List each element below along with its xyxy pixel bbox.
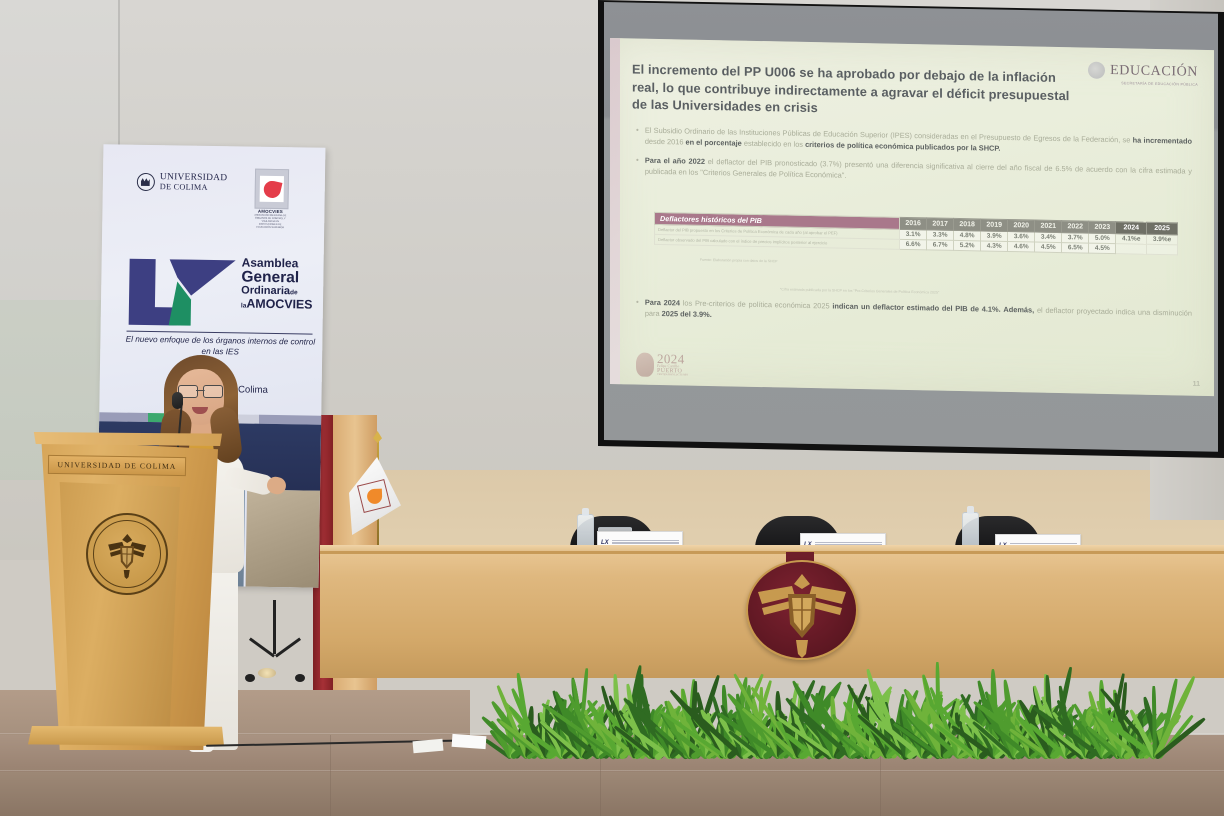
bullet-emphasis: en el porcentaje (686, 138, 742, 148)
eyeglass-lens-right (203, 385, 223, 398)
universidad-label: UNIVERSIDAD DE COLIMA (160, 173, 228, 193)
slide-bottom-bullet: • Para 2024 los Pre-criterios de polític… (636, 297, 1192, 338)
table-cell: 3.9%e (1147, 234, 1178, 245)
educacion-logo-label: EDUCACIÓN (1110, 63, 1198, 81)
table-cell: 3.7% (1062, 233, 1089, 244)
bullet-plain: desde 2016 (645, 137, 686, 147)
list-item: • Para 2024 los Pre-criterios de polític… (636, 297, 1192, 331)
floor-paper (452, 734, 487, 749)
government-seal-icon (1088, 62, 1105, 79)
presentation-hall-photo: EDUCACIÓN SECRETARÍA DE EDUCACIÓN PÚBLIC… (0, 0, 1224, 816)
bullet-plain: los Pre-criterios de política económica … (680, 298, 832, 310)
table-col-header-highlight: 2024 (1116, 222, 1147, 235)
assembly-line3-small: de (290, 289, 298, 296)
table-col-header: 2022 (1062, 221, 1089, 234)
table-col-header: 2016 (900, 217, 927, 230)
table-note-top: Fuente: Elaboración propia con datos de … (700, 258, 777, 264)
podium-base (28, 726, 224, 746)
speaker-eyeglasses (178, 385, 223, 396)
equipment-tripod (243, 600, 309, 696)
slide-accent-bar (610, 38, 620, 384)
table-cell: 4.8% (954, 230, 981, 241)
assembly-title: Asamblea General Ordinariade laAMOCVIES (241, 256, 320, 311)
table-col-header: 2018 (954, 218, 981, 231)
assembly-line4: laAMOCVIES (241, 297, 319, 311)
plant-leaf (1152, 686, 1157, 758)
eagle-crest-icon (102, 529, 153, 580)
educacion-logo: EDUCACIÓN (1088, 62, 1198, 81)
amocvies-logo-sublabel: ASOCIACIÓN MEXICANA DE ÓRGANOS DE CONTRO… (252, 214, 288, 230)
table-cell: 4.3% (981, 241, 1008, 252)
table-col-header: 2020 (1008, 219, 1035, 232)
amocvies-drop-icon (262, 179, 282, 199)
logo-caption: CENTENARIO LUCTUOSO (657, 374, 688, 377)
podium-top-surface (30, 432, 222, 446)
floor-spotlight (258, 668, 276, 678)
slide-title: El incremento del PP U006 se ha aprobado… (632, 60, 1082, 122)
bullet-text: Para 2024 los Pre-criterios de política … (645, 297, 1192, 330)
table-cell: 5.2% (954, 240, 981, 251)
carrillo-puerto-portrait-icon (636, 353, 654, 377)
universidad-line2: DE COLIMA (160, 183, 227, 193)
deflactores-table: Deflactores históricos del PIB 2016 2017… (654, 212, 1178, 256)
bullet-text: Para el año 2022 el deflactor del PIB pr… (645, 154, 1192, 187)
universidad-de-colima-logo: UNIVERSIDAD DE COLIMA (137, 173, 228, 193)
slide-bullet-list: • El Subsidio Ordinario de las Instituci… (636, 125, 1192, 195)
bullet-emphasis: Para el año 2022 (645, 155, 705, 165)
table-col-header: 2021 (1035, 220, 1062, 233)
bullet-text: El Subsidio Ordinario de las Institucion… (645, 125, 1192, 158)
table-cell: 6.5% (1062, 243, 1089, 254)
table-cell (1116, 244, 1147, 255)
decorative-plants (500, 630, 1150, 758)
colima-seal-icon (137, 173, 155, 191)
table-cell: 3.4% (1035, 232, 1062, 243)
table-cell: 6.6% (900, 239, 927, 250)
table-col-header: 2023 (1089, 221, 1116, 234)
bullet-emphasis: Además, (1003, 305, 1034, 315)
table-cell: 5.0% (1089, 233, 1116, 244)
bullet-plain: establecido en los (742, 139, 805, 149)
table-col-header-highlight: 2025 (1147, 222, 1178, 235)
table-cell: 3.9% (981, 231, 1008, 242)
table-cell: 4.6% (1008, 241, 1035, 252)
microphone-head-icon (172, 392, 183, 409)
bullet-emphasis: criterios de política económica publicad… (805, 140, 1000, 153)
table-note-bottom: *Cifra estimada publicada por la SHCP en… (780, 287, 939, 294)
table-cell: 4.5% (1089, 243, 1116, 254)
bullet-emphasis: ha incrementado (1133, 135, 1192, 145)
table-cell (1147, 244, 1178, 255)
floor-tile-line (330, 735, 331, 816)
podium-nameplate: UNIVERSIDAD DE COLIMA (48, 455, 186, 476)
table-cell: 3.1% (900, 229, 927, 240)
table-col-header: 2019 (981, 219, 1008, 232)
bullet-dot-icon: • (636, 154, 639, 177)
table-col-header: 2017 (927, 218, 954, 231)
bullet-emphasis: indican un deflactor estimado del PIB de… (832, 301, 1000, 313)
amocvies-logo-inner (260, 176, 284, 202)
table-cell: 4.5% (1035, 242, 1062, 253)
table-cell: 3.3% (927, 230, 954, 241)
bullet-emphasis: 2025 del 3.9%. (662, 309, 712, 319)
assembly-line4-main: AMOCVIES (246, 296, 312, 311)
amocvies-logo (254, 169, 289, 210)
bullet-emphasis: Para 2024 (645, 298, 680, 308)
slide-page-number: 11 (1193, 381, 1200, 388)
list-item: • Para el año 2022 el deflactor del PIB … (636, 154, 1192, 188)
table-cell: 3.6% (1008, 231, 1035, 242)
list-item: • El Subsidio Ordinario de las Instituci… (636, 125, 1192, 159)
plant (1144, 659, 1170, 758)
bullet-dot-icon: • (636, 125, 639, 148)
podium-nameplate-text: UNIVERSIDAD DE COLIMA (57, 460, 176, 471)
carrillo-puerto-text: 2024 Felipe Carrillo PUERTO CENTENARIO L… (657, 352, 688, 378)
lx-mark-icon (125, 255, 242, 329)
educacion-logo-sublabel: SECRETARÍA DE EDUCACIÓN PÚBLICA (1121, 81, 1198, 87)
carrillo-puerto-logo: 2024 Felipe Carrillo PUERTO CENTENARIO L… (636, 351, 688, 377)
table-cell: 6.7% (927, 240, 954, 251)
presentation-slide: EDUCACIÓN SECRETARÍA DE EDUCACIÓN PÚBLIC… (610, 38, 1214, 396)
floor-foreground (0, 772, 1224, 816)
banner-divider (127, 331, 313, 335)
table-cell: 4.1%e (1116, 234, 1147, 245)
bullet-plain: el deflactor del PIB pronosticado (3.7%)… (645, 156, 1192, 179)
floor-tile-line (0, 770, 1224, 771)
amocvies-drop-icon (366, 488, 382, 504)
bullet-dot-icon: • (636, 297, 639, 320)
